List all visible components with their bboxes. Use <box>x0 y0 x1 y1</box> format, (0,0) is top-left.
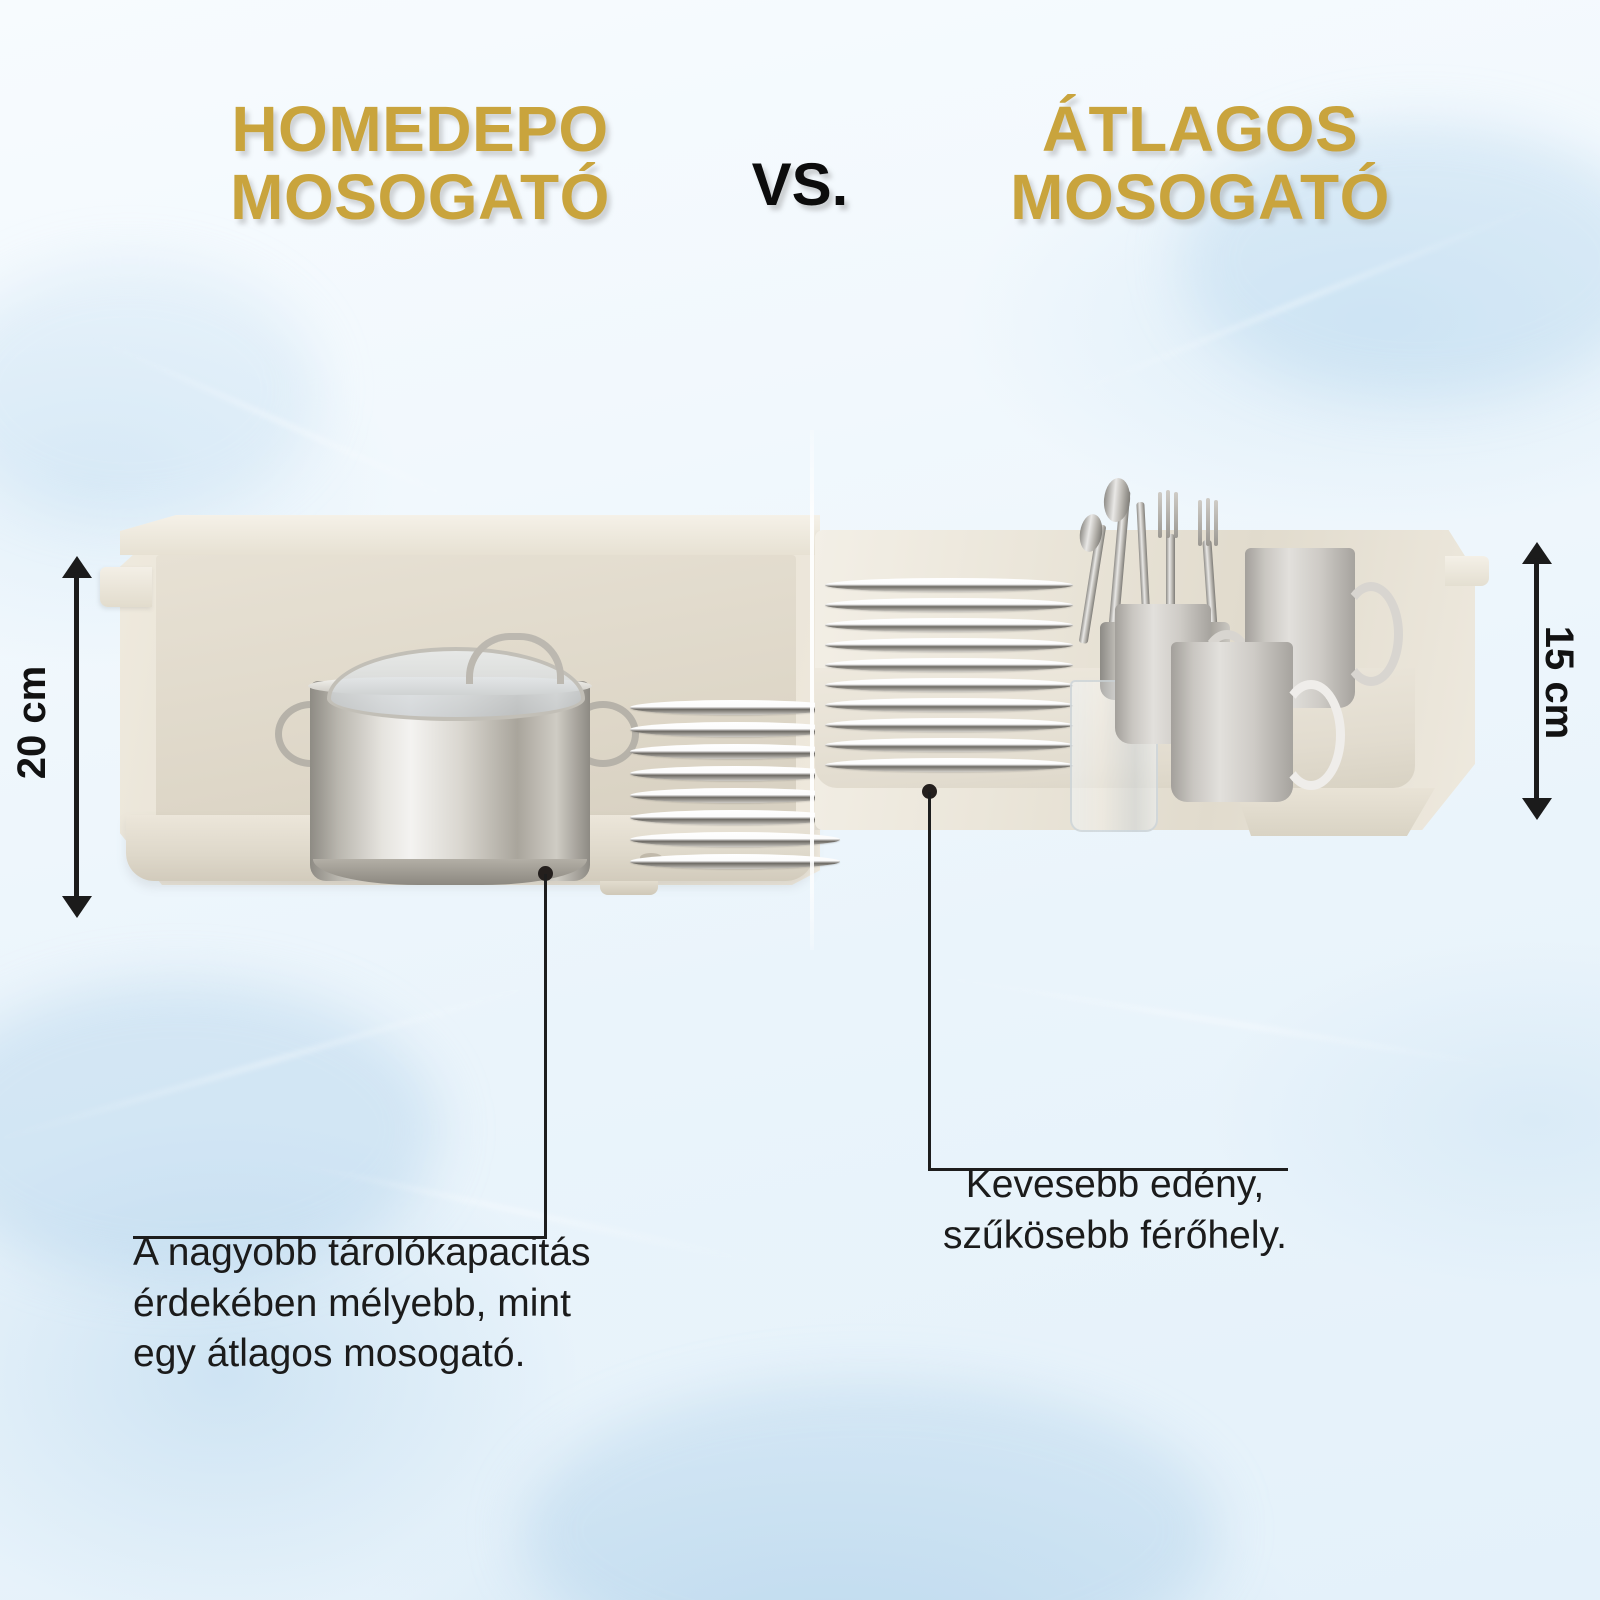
plate <box>630 744 840 759</box>
fork-tine <box>1206 498 1210 546</box>
dimension-label-right: 15 cm <box>1536 626 1581 739</box>
plate <box>825 618 1073 632</box>
arrow-down-icon <box>62 896 92 918</box>
plate <box>825 638 1073 652</box>
leader-vertical-line <box>928 792 931 1170</box>
photo-split-divider <box>810 430 814 950</box>
plate <box>825 758 1073 772</box>
plate <box>825 738 1073 752</box>
dimension-line <box>74 572 79 900</box>
plate <box>630 788 840 803</box>
leader-vertical-line <box>544 874 547 1238</box>
plate <box>630 810 840 825</box>
pot-lid-knob <box>466 633 564 684</box>
average-sink-illustration <box>815 530 1505 860</box>
fork-tine <box>1214 500 1218 546</box>
caption-average-sink: Kevesebb edény, szűkösebb férőhely. <box>905 1160 1325 1261</box>
heading-average-sink: ÁTLAGOS MOSOGATÓ <box>880 96 1520 232</box>
arrow-down-icon <box>1522 798 1552 820</box>
plate <box>825 658 1073 672</box>
dimension-label-left: 20 cm <box>10 666 55 779</box>
fork-tine <box>1166 490 1170 538</box>
plate-stack-right <box>825 578 1075 798</box>
plate <box>825 678 1073 692</box>
vs-label: VS. <box>700 150 900 219</box>
fork-tine <box>1198 500 1202 546</box>
plate <box>825 578 1073 592</box>
heading-homedepo-sink: HOMEDEPO MOSOGATÓ <box>110 96 730 232</box>
grey-mug-front <box>1171 642 1293 802</box>
stainless-stockpot <box>275 633 625 885</box>
mug-handle <box>1277 680 1345 790</box>
plate <box>825 598 1073 612</box>
sink-right-ear <box>1445 556 1489 586</box>
fork-tine <box>1174 492 1178 538</box>
background-wisp <box>520 1380 1220 1600</box>
mug-handle <box>1339 582 1403 686</box>
background-vein <box>0 975 568 1149</box>
plate <box>825 718 1073 732</box>
plate <box>825 698 1073 712</box>
plate <box>630 766 840 781</box>
pot-glass-lid <box>327 647 585 721</box>
homedepo-sink-illustration <box>100 515 820 905</box>
plate <box>630 700 840 715</box>
caption-homedepo-sink: A nagyobb tárolókapacitás érdekében mély… <box>133 1228 673 1380</box>
plate <box>630 722 840 737</box>
background-vein <box>904 970 1537 1073</box>
fork-tine <box>1158 492 1162 538</box>
plate <box>630 854 840 869</box>
sink-rim <box>120 515 820 555</box>
poster-canvas: HOMEDEPO MOSOGATÓ VS. ÁTLAGOS MOSOGATÓ <box>0 0 1600 1600</box>
sink-left-ear <box>100 567 152 607</box>
plate <box>630 832 840 847</box>
product-comparison-photo <box>70 430 1540 950</box>
